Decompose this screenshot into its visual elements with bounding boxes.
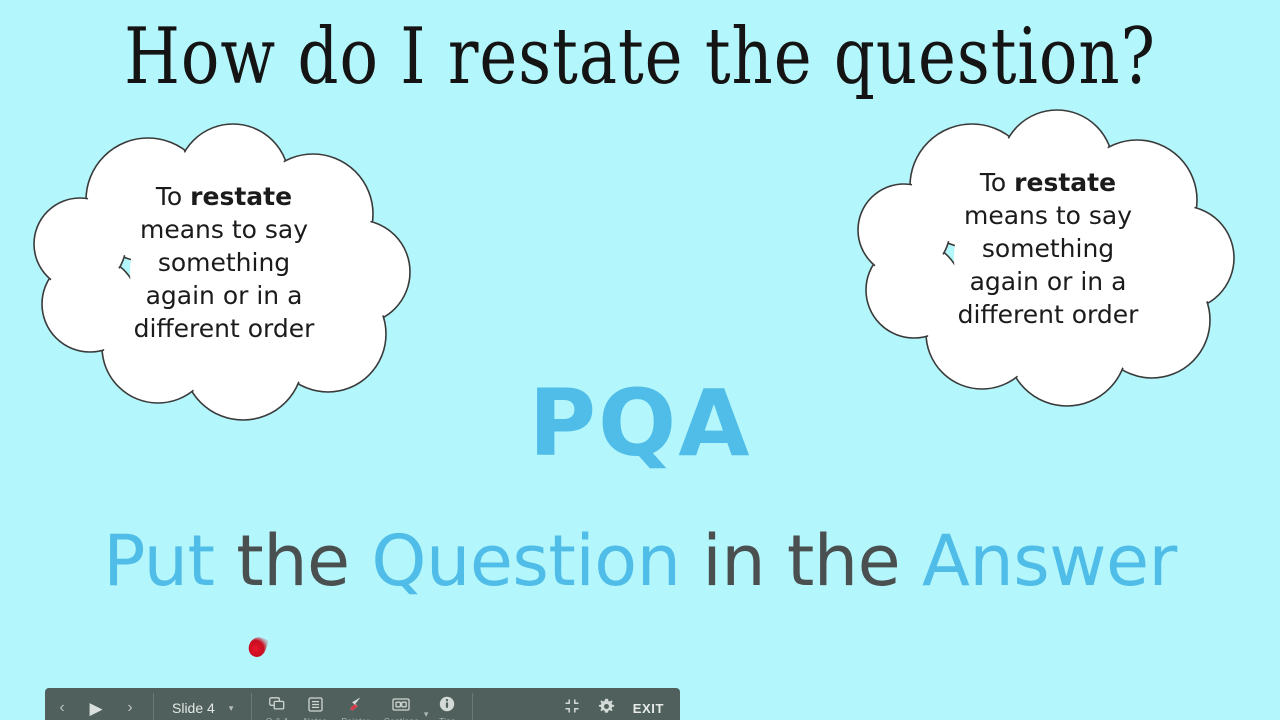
qa-label: Q & A bbox=[266, 716, 289, 720]
tips-label: Tips bbox=[439, 716, 456, 720]
notes-label: Notes bbox=[304, 716, 327, 720]
toolbar-divider-3 bbox=[472, 693, 473, 720]
toolbar-right-group: EXIT bbox=[564, 688, 680, 720]
notes-icon bbox=[308, 695, 323, 713]
chevron-right-icon: › bbox=[127, 699, 132, 717]
notes-button[interactable]: Notes bbox=[296, 688, 334, 720]
slide-title: How do I restate the question? bbox=[19, 18, 1261, 96]
captions-icon bbox=[392, 695, 410, 713]
cloud-left-text: To restate means to say something again … bbox=[28, 180, 420, 345]
gear-icon[interactable] bbox=[598, 698, 615, 719]
tips-button[interactable]: Tips bbox=[428, 688, 466, 720]
cloud-right-line5: different order bbox=[852, 298, 1244, 331]
pqa-tagline: Put the Question in the Answer bbox=[0, 524, 1280, 600]
cloud-callout-right: To restate means to say something again … bbox=[852, 108, 1244, 400]
cloud-right-text: To restate means to say something again … bbox=[852, 166, 1244, 331]
chevron-down-icon: ▾ bbox=[229, 703, 234, 714]
cloud-right-line4: again or in a bbox=[852, 265, 1244, 298]
presentation-toolbar: ‹ ▶ › Slide 4 ▾ Q & A bbox=[45, 688, 680, 720]
presentation-slide: How do I restate the question? bbox=[0, 0, 1280, 720]
previous-slide-button[interactable]: ‹ bbox=[45, 688, 79, 720]
pointer-label: Pointer bbox=[341, 716, 369, 720]
cloud-left-line3: something bbox=[28, 246, 420, 279]
tagline-word-put: Put bbox=[103, 520, 214, 602]
laser-pointer-dot bbox=[246, 635, 269, 660]
tagline-word-the1: the bbox=[236, 520, 349, 602]
cloud-right-line2: means to say bbox=[852, 199, 1244, 232]
cloud-left-line4: again or in a bbox=[28, 279, 420, 312]
chevron-left-icon: ‹ bbox=[59, 699, 64, 717]
cloud-right-line3: something bbox=[852, 232, 1244, 265]
qa-icon bbox=[269, 695, 285, 713]
fullscreen-exit-icon[interactable] bbox=[564, 698, 580, 718]
cloud-left-line5: different order bbox=[28, 312, 420, 345]
toolbar-divider-2 bbox=[251, 693, 252, 720]
play-icon: ▶ bbox=[89, 699, 102, 719]
captions-label: Captions bbox=[384, 716, 419, 720]
pqa-acronym: PQA bbox=[0, 378, 1280, 470]
info-icon bbox=[439, 695, 455, 713]
toolbar-divider-1 bbox=[153, 693, 154, 720]
tagline-word-answer: Answer bbox=[922, 520, 1177, 602]
cloud-left-line1: To restate bbox=[28, 180, 420, 213]
cloud-left-line2: means to say bbox=[28, 213, 420, 246]
qa-button[interactable]: Q & A bbox=[258, 688, 296, 720]
tagline-word-inthe: in the bbox=[702, 520, 900, 602]
pointer-icon bbox=[348, 695, 363, 713]
slide-selector[interactable]: Slide 4 ▾ bbox=[160, 688, 245, 720]
slide-indicator-label: Slide 4 bbox=[172, 700, 215, 716]
pointer-button[interactable]: Pointer bbox=[334, 688, 376, 720]
next-slide-button[interactable]: › bbox=[113, 688, 147, 720]
cloud-right-line1: To restate bbox=[852, 166, 1244, 199]
captions-button[interactable]: Captions bbox=[377, 688, 426, 720]
cloud-callout-left: To restate means to say something again … bbox=[28, 122, 420, 414]
toolbar-tools-group: Q & A Notes bbox=[258, 688, 466, 720]
tagline-word-question: Question bbox=[371, 520, 680, 602]
toolbar-nav-group: ‹ ▶ › bbox=[45, 688, 147, 720]
play-button[interactable]: ▶ bbox=[79, 688, 113, 720]
exit-button[interactable]: EXIT bbox=[633, 701, 664, 716]
